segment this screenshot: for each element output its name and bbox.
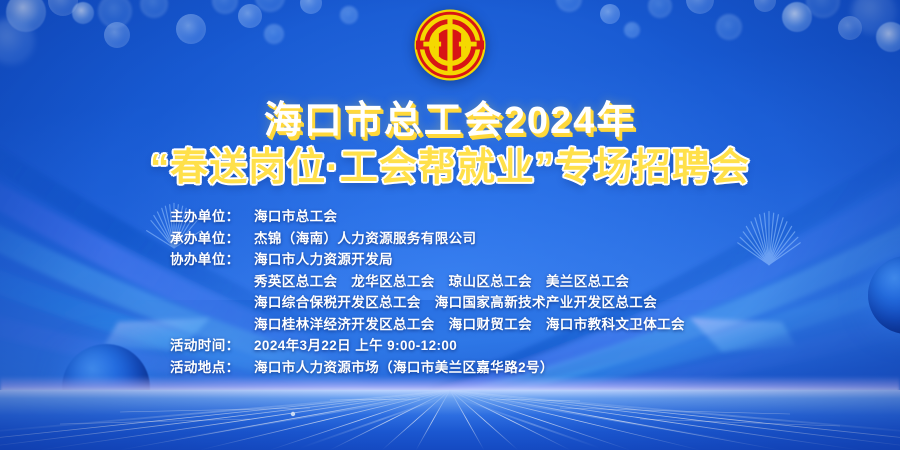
detail-row-co-organizer-3: 海口综合保税开发区总工会 海口国家高新技术产业开发区总工会 xyxy=(0,292,900,314)
detail-label: 活动时间： xyxy=(170,335,254,357)
recruitment-fair-poster: 海口市总工会2024年 “春送岗位·工会帮就业”专场招聘会 主办单位： 海口市总… xyxy=(0,0,900,450)
detail-label: 活动地点： xyxy=(170,357,254,379)
firework-burst-left-icon xyxy=(138,186,210,258)
detail-value: 秀英区总工会 龙华区总工会 琼山区总工会 美兰区总工会 xyxy=(254,271,730,293)
detail-label xyxy=(170,271,254,293)
detail-value: 海口市人力资源市场（海口市美兰区嘉华路2号） xyxy=(254,357,730,379)
firework-burst-right-icon xyxy=(730,196,808,274)
detail-value: 海口桂林洋经济开发区总工会 海口财贸工会 海口市教科文卫体工会 xyxy=(254,314,730,336)
detail-row-host: 承办单位： 杰锦（海南）人力资源服务有限公司 xyxy=(0,228,900,250)
detail-value: 杰锦（海南）人力资源服务有限公司 xyxy=(254,228,730,250)
detail-row-co-organizer-4: 海口桂林洋经济开发区总工会 海口财贸工会 海口市教科文卫体工会 xyxy=(0,314,900,336)
detail-value: 海口综合保税开发区总工会 海口国家高新技术产业开发区总工会 xyxy=(254,292,730,314)
detail-label xyxy=(170,314,254,336)
decorative-sphere-left xyxy=(62,344,150,432)
poster-title-line-2: “春送岗位·工会帮就业”专场招聘会 xyxy=(0,144,900,192)
detail-value: 海口市人力资源开发局 xyxy=(254,249,730,271)
detail-row-organizer: 主办单位： 海口市总工会 xyxy=(0,206,900,228)
detail-value: 2024年3月22日 上午 9:00-12:00 xyxy=(254,335,730,357)
detail-value: 海口市总工会 xyxy=(254,206,730,228)
poster-details-list: 主办单位： 海口市总工会 承办单位： 杰锦（海南）人力资源服务有限公司 协办单位… xyxy=(0,206,900,378)
detail-label: 主办单位： xyxy=(170,206,254,228)
poster-title-block: 海口市总工会2024年 “春送岗位·工会帮就业”专场招聘会 xyxy=(0,98,900,192)
poster-title-line-1: 海口市总工会2024年 xyxy=(0,98,900,144)
china-trade-union-emblem-icon xyxy=(413,8,487,82)
decorative-sphere-right xyxy=(868,256,900,334)
detail-label xyxy=(170,292,254,314)
detail-label: 协办单位： xyxy=(170,249,254,271)
detail-row-co-organizer: 协办单位： 海口市人力资源开发局 xyxy=(0,249,900,271)
detail-row-co-organizer-2: 秀英区总工会 龙华区总工会 琼山区总工会 美兰区总工会 xyxy=(0,271,900,293)
detail-row-event-time: 活动时间： 2024年3月22日 上午 9:00-12:00 xyxy=(0,335,900,357)
detail-label: 承办单位： xyxy=(170,228,254,250)
